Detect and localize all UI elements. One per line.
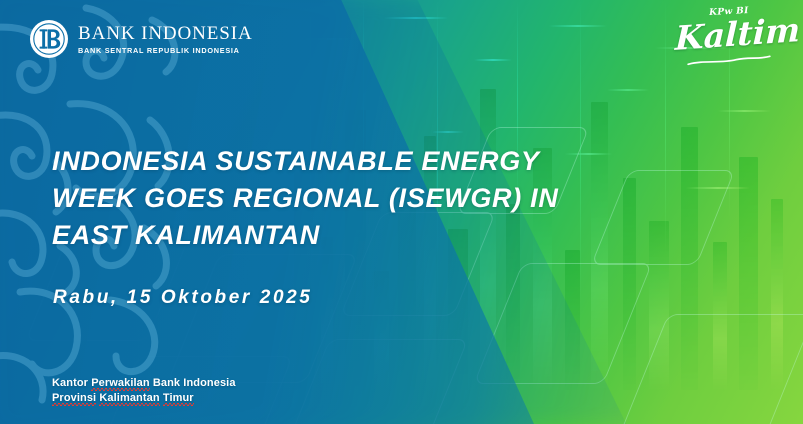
bank-indonesia-seal-icon (29, 19, 69, 59)
footer-word: Kantor (52, 377, 91, 389)
misspelled-word: Provinsi (52, 392, 96, 406)
bank-indonesia-wordmark: BANK INDONESIA BANK SENTRAL REPUBLIK IND… (78, 24, 253, 54)
misspelled-word: Kalimantan (99, 392, 159, 406)
title-line-1: INDONESIA SUSTAINABLE ENERGY (52, 143, 582, 180)
office-attribution: Kantor Perwakilan Bank Indonesia Provins… (52, 376, 236, 405)
title-line-3: EAST KALIMANTAN (52, 217, 582, 254)
page-title: INDONESIA SUSTAINABLE ENERGY WEEK GOES R… (52, 143, 582, 254)
bank-subtitle-text: BANK SENTRAL REPUBLIK INDONESIA (78, 47, 253, 54)
kpw-bi-kaltim-logo: KPw BI Kaltim (675, 8, 783, 69)
kaltim-script-text: Kaltim (675, 14, 784, 55)
title-line-2: WEEK GOES REGIONAL (ISEWGR) IN (52, 180, 582, 217)
presentation-slide: BANK INDONESIA BANK SENTRAL REPUBLIK IND… (0, 0, 803, 424)
misspelled-word: Timur (163, 392, 194, 406)
footer-line-1: Kantor Perwakilan Bank Indonesia (52, 376, 236, 391)
event-date: Rabu, 15 Oktober 2025 (53, 288, 312, 307)
misspelled-word: Perwakilan (91, 377, 149, 391)
footer-line-2: Provinsi Kalimantan Timur (52, 391, 236, 406)
footer-word: Bank Indonesia (150, 377, 236, 389)
bank-name-text: BANK INDONESIA (78, 24, 253, 43)
bank-indonesia-logo: BANK INDONESIA BANK SENTRAL REPUBLIK IND… (29, 19, 253, 59)
